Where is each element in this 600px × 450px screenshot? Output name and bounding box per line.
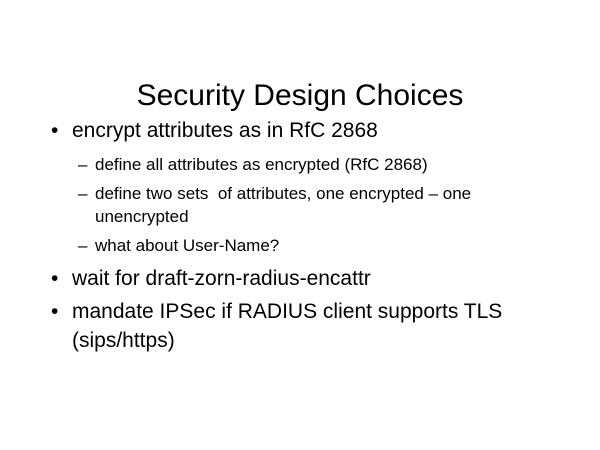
dash-icon: – bbox=[78, 182, 87, 205]
bullet-group-primary: • encrypt attributes as in RfC 2868 bbox=[40, 116, 560, 145]
list-item: • wait for draft-zorn-radius-encattr bbox=[40, 264, 560, 293]
list-item-label: encrypt attributes as in RfC 2868 bbox=[72, 116, 560, 145]
list-item-label: define two sets of attributes, one encry… bbox=[95, 182, 560, 228]
list-item: • mandate IPSec if RADIUS client support… bbox=[40, 297, 560, 355]
dash-icon: – bbox=[78, 234, 87, 257]
list-item-label: what about User-Name? bbox=[95, 234, 560, 257]
dash-icon: – bbox=[78, 153, 87, 176]
page-title: Security Design Choices bbox=[0, 78, 600, 114]
list-item: – define two sets of attributes, one enc… bbox=[40, 182, 560, 228]
list-item: • encrypt attributes as in RfC 2868 bbox=[40, 116, 560, 145]
bullet-group-primary-2: • wait for draft-zorn-radius-encattr • m… bbox=[40, 264, 560, 355]
bullet-dot-icon: • bbox=[51, 116, 58, 145]
list-item-label: define all attributes as encrypted (RfC … bbox=[95, 153, 560, 176]
bullet-dot-icon: • bbox=[51, 264, 58, 293]
list-item-label: mandate IPSec if RADIUS client supports … bbox=[72, 297, 560, 355]
bullet-group-sub: – define all attributes as encrypted (Rf… bbox=[40, 153, 560, 257]
list-item: – define all attributes as encrypted (Rf… bbox=[40, 153, 560, 176]
bullet-list: • encrypt attributes as in RfC 2868 – de… bbox=[40, 116, 560, 356]
slide: Security Design Choices • encrypt attrib… bbox=[0, 0, 600, 450]
list-item: – what about User-Name? bbox=[40, 234, 560, 257]
list-item-label: wait for draft-zorn-radius-encattr bbox=[72, 264, 560, 293]
bullet-dot-icon: • bbox=[51, 297, 58, 326]
